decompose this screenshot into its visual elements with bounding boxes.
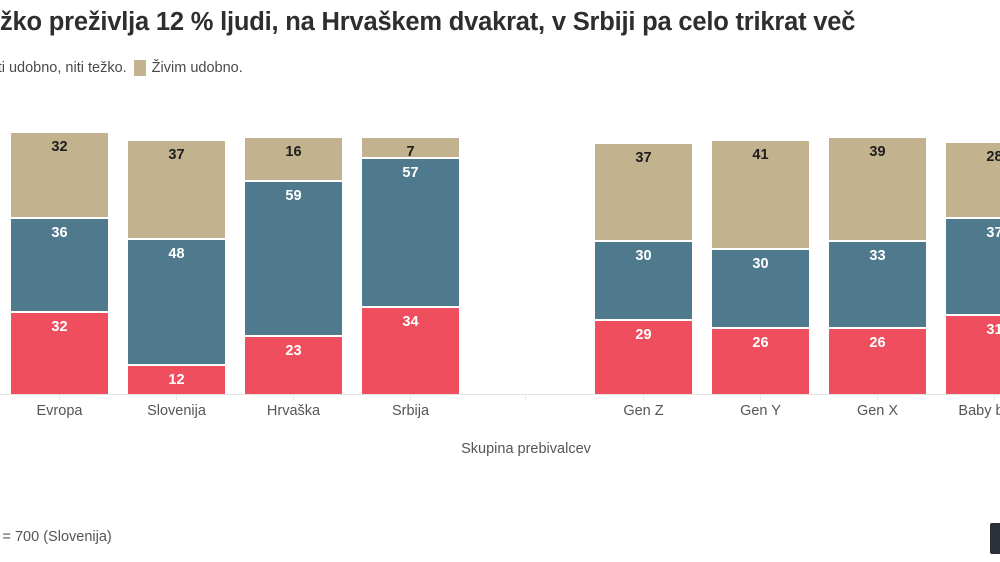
x-tick-label-evropa: Evropa <box>11 403 108 419</box>
x-tick-label-gen-y: Gen Y <box>712 403 809 419</box>
bar-segment-value: 29 <box>635 321 651 343</box>
bar-stack: 413026 <box>712 141 809 395</box>
bar-segment-bottom[interactable]: 32 <box>11 311 108 395</box>
x-tick-label-baby-boomerji: Baby b <box>946 403 1000 419</box>
x-axis-tick <box>59 395 60 400</box>
bar-segment-bottom[interactable]: 26 <box>829 327 926 395</box>
x-axis-title: Skupina prebivalcev <box>0 441 1000 457</box>
bar-segment-middle[interactable]: 33 <box>829 240 926 326</box>
brand-logo-icon <box>990 523 1000 554</box>
x-tick-label-gen-x: Gen X <box>829 403 926 419</box>
bar-segment-value: 36 <box>51 219 67 241</box>
bar-segment-bottom[interactable]: 23 <box>245 335 342 395</box>
legend-label-neutral: Niti udobno, niti težko. <box>0 60 127 76</box>
bar-segment-value: 37 <box>986 219 1000 241</box>
legend-swatch-comfortable-icon <box>134 60 146 76</box>
bar-segment-value: 30 <box>635 242 651 264</box>
bar-segment-value: 28 <box>986 143 1000 165</box>
legend-entry-comfortable[interactable]: Živim udobno. <box>134 60 243 76</box>
x-tick-label-gen-z: Gen Z <box>595 403 692 419</box>
bar-segment-value: 41 <box>752 141 768 163</box>
bar-segment-middle[interactable]: 48 <box>128 238 225 364</box>
x-axis-tick <box>994 395 995 400</box>
bar-segment-top[interactable]: 37 <box>595 144 692 241</box>
bar-segment-value: 34 <box>402 308 418 330</box>
x-tick-label-hrvaška: Hrvaška <box>245 403 342 419</box>
bar-segment-middle[interactable]: 37 <box>946 217 1000 314</box>
bar-segment-value: 31 <box>986 316 1000 338</box>
bar-segment-value: 48 <box>168 240 184 262</box>
bar-segment-bottom[interactable]: 26 <box>712 327 809 395</box>
bar-segment-value: 16 <box>285 138 301 160</box>
bar-stack: 374812 <box>128 141 225 395</box>
bar-stack: 283731 <box>946 143 1000 395</box>
x-axis-line <box>0 394 1000 395</box>
bar-segment-value: 57 <box>402 159 418 181</box>
bar-segment-top[interactable]: 32 <box>11 133 108 217</box>
bar-segment-value: 37 <box>635 144 651 166</box>
bar-segment-value: 30 <box>752 250 768 272</box>
bar-stack: 393326 <box>829 138 926 395</box>
legend-label-comfortable: Živim udobno. <box>152 60 243 76</box>
bar-stack: 323632 <box>11 133 108 395</box>
plot-area: 3236323748121659237573437302941302639332… <box>0 100 1000 395</box>
bar-segment-bottom[interactable]: 31 <box>946 314 1000 395</box>
bar-segment-bottom[interactable]: 34 <box>362 306 459 395</box>
chart-legend: Niti udobno, niti težko. Živim udobno. <box>0 60 243 76</box>
bar-segment-top[interactable]: 16 <box>245 138 342 180</box>
bar-segment-middle[interactable]: 30 <box>712 248 809 327</box>
bar-segment-value: 23 <box>285 337 301 359</box>
x-axis-tick <box>643 395 644 400</box>
x-axis-tick <box>293 395 294 400</box>
bar-segment-top[interactable]: 37 <box>128 141 225 238</box>
bar-segment-value: 12 <box>168 366 184 388</box>
bar-segment-value: 37 <box>168 141 184 163</box>
bar-segment-bottom[interactable]: 12 <box>128 364 225 395</box>
bar-stack: 165923 <box>245 138 342 395</box>
bar-segment-value: 32 <box>51 313 67 335</box>
x-axis-tick <box>410 395 411 400</box>
bar-segment-value: 26 <box>869 329 885 351</box>
legend-entry-neutral[interactable]: Niti udobno, niti težko. <box>0 60 127 76</box>
bar-segment-top[interactable]: 28 <box>946 143 1000 216</box>
bar-segment-value: 33 <box>869 242 885 264</box>
bar-segment-value: 32 <box>51 133 67 155</box>
x-axis-tick <box>525 395 526 400</box>
chart-title: ežko preživlja 12 % ljudi, na Hrvaškem d… <box>0 8 1000 37</box>
x-axis-tick <box>176 395 177 400</box>
bar-segment-bottom[interactable]: 29 <box>595 319 692 395</box>
bar-segment-value: 26 <box>752 329 768 351</box>
x-axis-tick <box>760 395 761 400</box>
bar-stack: 75734 <box>362 138 459 395</box>
bar-segment-middle[interactable]: 30 <box>595 240 692 319</box>
bar-stack: 373029 <box>595 144 692 396</box>
bar-segment-value: 39 <box>869 138 885 160</box>
x-axis-tick <box>877 395 878 400</box>
bar-segment-middle[interactable]: 36 <box>11 217 108 311</box>
bar-segment-value: 7 <box>406 138 414 156</box>
bar-segment-middle[interactable]: 57 <box>362 157 459 306</box>
bar-segment-value: 59 <box>285 182 301 204</box>
x-tick-label-slovenija: Slovenija <box>128 403 225 419</box>
bar-segment-top[interactable]: 41 <box>712 141 809 248</box>
bar-segment-top[interactable]: 39 <box>829 138 926 240</box>
x-tick-label-srbija: Srbija <box>362 403 459 419</box>
bar-segment-middle[interactable]: 59 <box>245 180 342 335</box>
chart-footnote: N = 700 (Slovenija) <box>0 529 112 545</box>
bar-segment-top[interactable]: 7 <box>362 138 459 156</box>
